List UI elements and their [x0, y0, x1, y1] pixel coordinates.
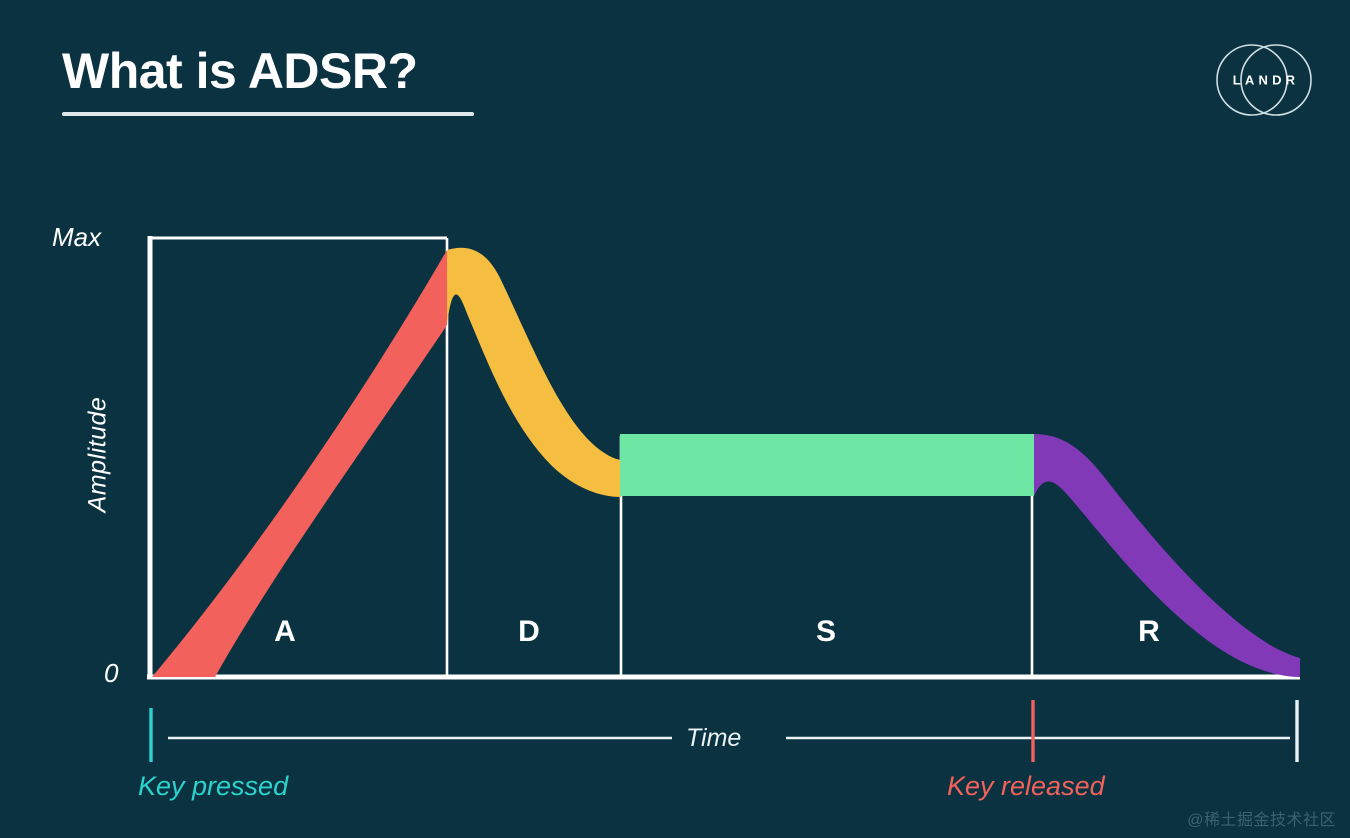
slide-canvas: What is ADSR? LANDR	[0, 0, 1350, 838]
y-axis-max-label: Max	[52, 222, 101, 253]
watermark: @稀土掘金技术社区	[1187, 806, 1336, 830]
decay-curve-band	[447, 248, 621, 497]
sustain-level-band	[620, 434, 1034, 496]
stage-letter-release: R	[1138, 615, 1160, 649]
attack-curve-band	[152, 250, 447, 677]
key-released-label: Key released	[947, 771, 1105, 802]
y-axis-title: Amplitude	[84, 335, 113, 575]
stage-letter-decay: D	[518, 615, 540, 649]
stage-letter-attack: A	[274, 615, 296, 649]
stage-letter-sustain: S	[816, 615, 836, 649]
key-pressed-label: Key pressed	[138, 771, 288, 802]
adsr-envelope-chart	[0, 0, 1350, 838]
x-axis-title: Time	[686, 724, 741, 753]
y-axis-zero-label: 0	[104, 658, 118, 689]
release-curve-band	[1034, 434, 1300, 677]
